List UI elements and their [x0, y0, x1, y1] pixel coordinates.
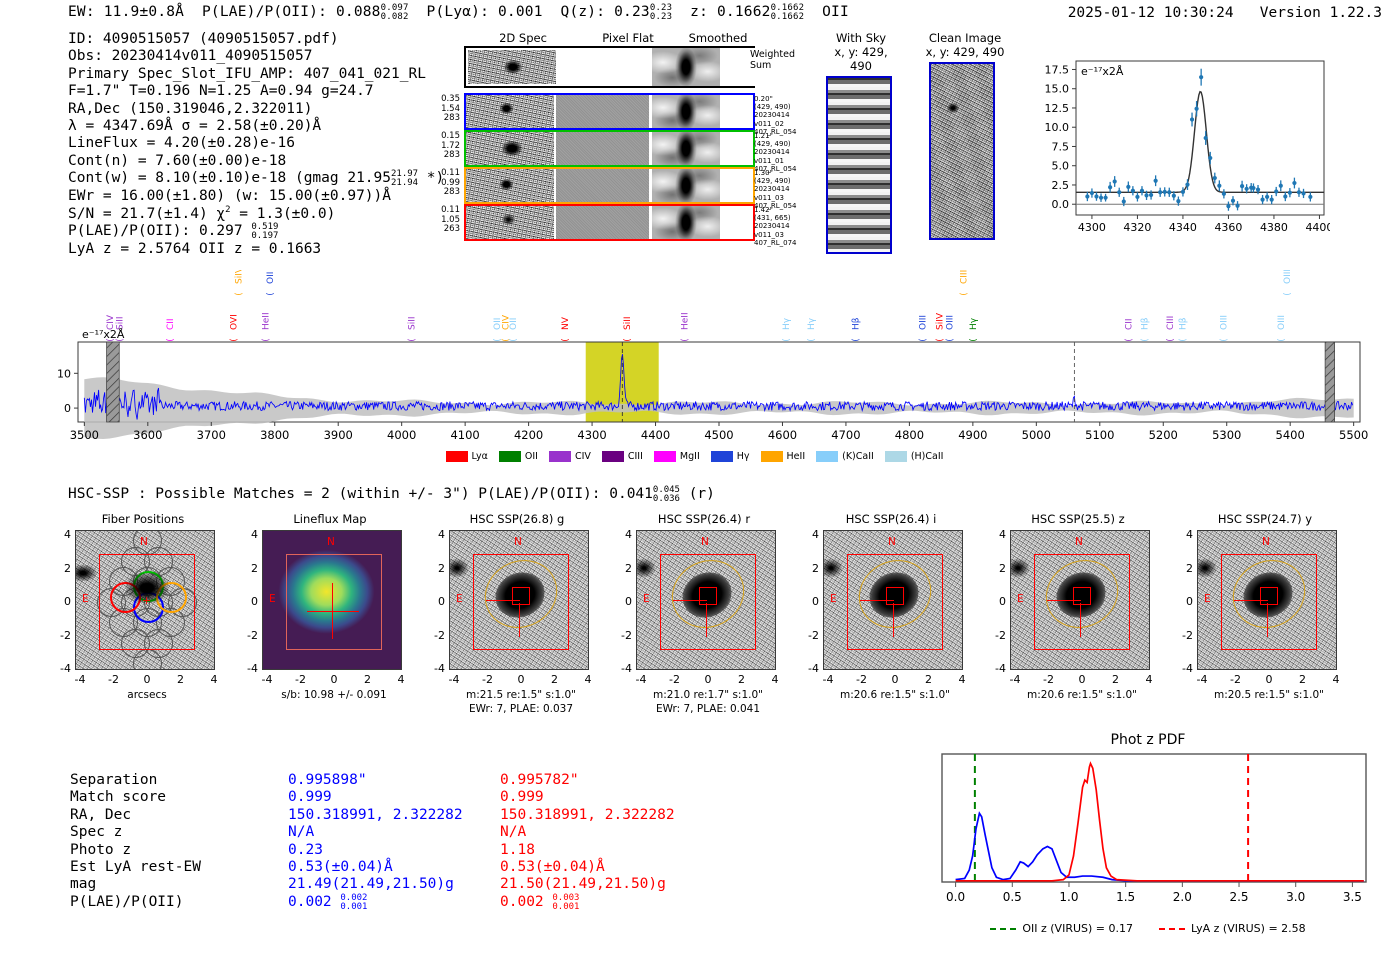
cutout-y-tick: 0	[53, 595, 71, 608]
legend-swatch	[446, 451, 468, 462]
cutout-x-tick: 2	[1106, 673, 1126, 686]
row-meta-line: 1.21"	[754, 132, 814, 140]
svg-text:2.5: 2.5	[1052, 179, 1070, 192]
cutout-panel: HSC SSP(25.5) zNE-4-2024-4-2024m:20.6 re…	[993, 512, 1183, 526]
cutout-y-tick: 4	[427, 528, 445, 541]
svg-text:4400: 4400	[641, 428, 670, 442]
svg-text:Hγ: Hγ	[782, 317, 792, 330]
photz-pdf-chart: Phot z PDF0.00.51.01.52.02.53.03.5	[918, 728, 1378, 918]
row-smoothed	[652, 132, 720, 165]
info-radec: RA,Dec (150.319046,2.322011)	[68, 101, 444, 118]
row-meta-line: v011_02	[754, 120, 814, 128]
match-row-label: Est LyA rest-EW	[70, 859, 201, 876]
svg-text:(: (	[946, 338, 956, 342]
svg-text:3.0: 3.0	[1286, 890, 1305, 904]
photz-legend-dash	[1159, 928, 1185, 930]
row-meta-line: v011_03	[754, 231, 814, 239]
svg-text:OIII: OIII	[1283, 270, 1293, 284]
svg-text:5000: 5000	[1022, 428, 1051, 442]
cutout-y-tick: 2	[614, 562, 632, 575]
weighted-sum-pixelflat	[558, 48, 649, 86]
cutout-y-tick: -2	[1175, 629, 1193, 642]
center-marker	[512, 587, 530, 605]
info-sn-post: = 1.3(±0.0)	[231, 206, 336, 222]
row-2dspec	[466, 206, 554, 239]
ew-label: EW:	[68, 4, 95, 20]
cutout-caption-primary: m:20.5 re:1.5" s:1.0"	[1174, 689, 1364, 702]
row-2dspec	[466, 132, 554, 165]
row-meta-line: v011_03	[754, 194, 814, 202]
version-timestamp: 2025-01-12 10:30:24 Version 1.22.3	[1068, 5, 1382, 21]
row-pixelflat	[556, 169, 649, 202]
svg-text:4300: 4300	[577, 428, 606, 442]
svg-text:5400: 5400	[1276, 428, 1305, 442]
row-stats: 0.111.05263	[416, 206, 460, 235]
svg-text:4700: 4700	[831, 428, 860, 442]
cutout-image[interactable]: +NE	[75, 530, 215, 670]
cutout-x-tick: 4	[391, 673, 411, 686]
svg-text:5500: 5500	[1339, 428, 1368, 442]
svg-text:Hγ: Hγ	[807, 317, 817, 330]
compass-e: E	[643, 593, 650, 605]
legend-label: MgII	[680, 451, 700, 462]
match-row-label: P(LAE)/P(OII)	[70, 894, 184, 911]
legend-swatch	[711, 451, 733, 462]
line-fit-chart: e⁻¹⁷x2Å0.02.55.07.510.012.515.017.543004…	[1030, 53, 1330, 243]
cutout-x-tick: 4	[765, 673, 785, 686]
svg-text:10.0: 10.0	[1045, 121, 1070, 134]
row-stats: 0.151.72283	[416, 132, 460, 161]
svg-text:12.5: 12.5	[1045, 102, 1070, 115]
plya-value: 0.001	[498, 4, 543, 20]
row-meta: 0.20"(429, 490)20230414v011_02407_RL_054	[754, 95, 814, 136]
match-value-blue: 0.002 0.0020.001	[288, 894, 367, 912]
weighted-sum-smoothed	[652, 48, 720, 86]
weighted-sum-2dspec	[468, 50, 556, 84]
svg-text:Phot z PDF: Phot z PDF	[1111, 732, 1186, 748]
svg-text:(: (	[680, 338, 690, 342]
svg-text:0.5: 0.5	[1003, 890, 1022, 904]
svg-text:(: (	[782, 338, 792, 342]
svg-text:OIII: OIII	[1277, 315, 1287, 330]
compass-n: N	[140, 536, 148, 548]
photz-legend-label: OII z (VIRUS) = 0.17	[1022, 922, 1133, 935]
cutout-y-tick: -4	[53, 662, 71, 675]
cutout-y-tick: -4	[988, 662, 1006, 675]
cutout-x-tick: -4	[257, 673, 277, 686]
svg-text:OII: OII	[266, 272, 276, 284]
svg-text:(: (	[935, 338, 945, 342]
info-cont-w: Cont(w) = 8.10(±0.10)e-18 (gmag 21.9521.…	[68, 170, 444, 188]
cutout-title: HSC SSP(26.4) r	[619, 512, 789, 526]
svg-text:3600: 3600	[133, 428, 162, 442]
cutout-x-tick: 4	[204, 673, 224, 686]
cutout-y-tick: -4	[240, 662, 258, 675]
svg-text:Hβ: Hβ	[852, 317, 862, 330]
compass-n: N	[701, 536, 709, 548]
cutout-x-tick: 4	[1139, 673, 1159, 686]
qz-label: Q(z):	[561, 4, 606, 20]
match-value-red: 0.999	[500, 789, 544, 806]
cutout-y-tick: 0	[988, 595, 1006, 608]
cutout-x-tick: -4	[444, 673, 464, 686]
legend-label: OII	[525, 451, 538, 462]
row-stats: 0.110.99283	[416, 169, 460, 198]
svg-text:(: (	[1277, 338, 1287, 342]
cutout-y-tick: 0	[801, 595, 819, 608]
cutout-y-tick: -2	[614, 629, 632, 642]
info-cont-w-pre: Cont(w) = 8.10(±0.10)e-18 (gmag 21.95	[68, 170, 391, 186]
cutout-image[interactable]: NE	[262, 530, 402, 670]
legend-label: CIII	[628, 451, 643, 462]
match-value-red: N/A	[500, 824, 526, 841]
row-meta: 1.42"(431, 665)20230414v011_03407_RL_074	[754, 206, 814, 247]
svg-text:HeII: HeII	[680, 312, 690, 330]
row-meta-line: (429, 490)	[754, 140, 814, 148]
match-value-red: 150.318991, 2.322282	[500, 807, 675, 824]
timestamp: 2025-01-12 10:30:24	[1068, 5, 1234, 21]
cutout-y-tick: -4	[801, 662, 819, 675]
cutout-x-tick: -4	[1192, 673, 1212, 686]
cutout-image[interactable]: NE	[823, 530, 963, 670]
cutout-x-tick: 2	[732, 673, 752, 686]
cutout-x-tick: -2	[291, 673, 311, 686]
cutout-x-tick: 0	[324, 673, 344, 686]
match-value-blue: N/A	[288, 824, 314, 841]
info-obs: Obs: 20230414v011_4090515057	[68, 48, 444, 65]
compass-n: N	[888, 536, 896, 548]
center-marker	[1260, 587, 1278, 605]
clean-image-title: Clean Image	[925, 31, 1005, 45]
cutout-image[interactable]: NE	[636, 530, 776, 670]
svg-text:4000: 4000	[387, 428, 416, 442]
cutout-y-tick: 2	[427, 562, 445, 575]
with-sky-image	[826, 76, 892, 254]
match-row-label: Separation	[70, 772, 157, 789]
cutout-title: Lineflux Map	[245, 512, 415, 526]
row-stat-value: 283	[416, 151, 460, 161]
legend-swatch	[885, 451, 907, 462]
row-meta: 1.30"(429, 490)20230414v011_03407_RL_054	[754, 169, 814, 210]
svg-text:(: (	[407, 338, 417, 342]
compass-e: E	[1017, 593, 1024, 605]
svg-text:SiII: SiII	[623, 316, 633, 330]
photz-legend-dash	[990, 928, 1016, 930]
spec2d-row	[464, 167, 755, 204]
cutout-y-tick: 2	[53, 562, 71, 575]
svg-text:2.5: 2.5	[1229, 890, 1248, 904]
cutout-caption-secondary: EWr: 7, PLAE: 0.041	[613, 703, 803, 716]
cutout-panel: Fiber Positions+NE-4-2024-4-2024arcsecs	[58, 512, 248, 526]
cutout-caption-secondary: EWr: 7, PLAE: 0.037	[426, 703, 616, 716]
match-row-label: Match score	[70, 789, 166, 806]
svg-text:Hβ: Hβ	[1178, 317, 1188, 330]
cutout-x-tick: 0	[511, 673, 531, 686]
row-meta-line: v011_01	[754, 157, 814, 165]
svg-text:(: (	[623, 338, 633, 342]
match-value-blue: 150.318991, 2.322282	[288, 807, 463, 824]
svg-text:4800: 4800	[895, 428, 924, 442]
match-value-red: 21.50(21.49,21.50)g	[500, 876, 666, 893]
hsc-summary-post: (r)	[689, 486, 715, 502]
cutout-x-tick: -4	[631, 673, 651, 686]
cutout-panel: HSC SSP(26.4) iNE-4-2024-4-2024m:20.6 re…	[806, 512, 996, 526]
cutout-title: HSC SSP(24.7) y	[1180, 512, 1350, 526]
cutout-x-tick: 4	[952, 673, 972, 686]
cutout-x-tick: -4	[1005, 673, 1025, 686]
svg-text:5200: 5200	[1149, 428, 1178, 442]
plae-label: P(LAE)/P(OII):	[202, 4, 327, 20]
info-plae-pre: P(LAE)/P(OII): 0.297	[68, 223, 243, 239]
cutout-image[interactable]: NE	[449, 530, 589, 670]
compass-e: E	[82, 593, 89, 605]
cutout-x-tick: 0	[698, 673, 718, 686]
clean-image-panel: Clean Image x, y: 429, 490	[925, 31, 1005, 240]
row-meta-line: 0.20"	[754, 95, 814, 103]
compass-e: E	[456, 593, 463, 605]
cutout-y-tick: 2	[1175, 562, 1193, 575]
cutout-x-tick: 2	[919, 673, 939, 686]
svg-text:5100: 5100	[1085, 428, 1114, 442]
match-value-blue: 0.995898"	[288, 772, 367, 789]
svg-text:3900: 3900	[324, 428, 353, 442]
clean-image-coords: x, y: 429, 490	[925, 45, 1005, 59]
row-meta-line: 1.30"	[754, 169, 814, 177]
svg-text:(: (	[852, 338, 862, 342]
row-stat-value: 283	[416, 188, 460, 198]
plae-lower: 0.082	[381, 13, 409, 22]
svg-text:CIII: CIII	[1166, 316, 1176, 330]
svg-text:(: (	[807, 338, 817, 342]
row-meta-line: (429, 490)	[754, 103, 814, 111]
cutout-y-tick: -2	[240, 629, 258, 642]
compass-n: N	[514, 536, 522, 548]
cutout-x-tick: 2	[358, 673, 378, 686]
match-value-blue: 21.49(21.49,21.50)g	[288, 876, 454, 893]
cutout-panel: Lineflux MapNE-4-2024-4-2024s/b: 10.98 +…	[245, 512, 435, 526]
cutout-panel: HSC SSP(26.8) gNE-4-2024-4-2024m:21.5 re…	[432, 512, 622, 526]
svg-text:CIII: CIII	[960, 270, 970, 284]
photz-legend: OII z (VIRUS) = 0.17LyA z (VIRUS) = 2.58	[918, 918, 1378, 937]
legend-swatch	[499, 451, 521, 462]
qz-lower: 0.23	[650, 13, 672, 22]
svg-text:CII: CII	[166, 318, 176, 330]
legend-swatch	[654, 451, 676, 462]
svg-text:(: (	[1220, 338, 1230, 342]
cutout-y-tick: 4	[988, 528, 1006, 541]
svg-text:7.5: 7.5	[1052, 140, 1070, 153]
info-redshifts: LyA z = 2.5764 OII z = 0.1663	[68, 241, 444, 258]
svg-text:(: (	[235, 292, 245, 296]
row-meta: 1.21"(429, 490)20230414v011_01407_RL_054	[754, 132, 814, 173]
svg-text:Hβ: Hβ	[1140, 317, 1150, 330]
info-cont-n: Cont(n) = 7.60(±0.00)e-18	[68, 153, 444, 170]
cutout-title: Fiber Positions	[58, 512, 228, 526]
info-plae-lo: 0.197	[251, 232, 278, 241]
svg-text:3.5: 3.5	[1343, 890, 1362, 904]
svg-text:(: (	[1125, 338, 1135, 342]
legend-swatch	[602, 451, 624, 462]
spec2d-row	[464, 130, 755, 167]
svg-text:(: (	[918, 338, 928, 342]
spectrum-legend: LyαOIICIVCIIIMgIIHγHeII(K)CaII(H)CaII	[0, 446, 1400, 465]
legend-label: Lyα	[472, 451, 488, 462]
cutout-x-tick: -2	[478, 673, 498, 686]
row-pixelflat	[556, 206, 649, 239]
compass-e: E	[1204, 593, 1211, 605]
legend-swatch	[549, 451, 571, 462]
svg-text:4600: 4600	[768, 428, 797, 442]
info-ewr: EWr = 16.00(±1.80) (w: 15.00(±0.97))Å	[68, 188, 444, 205]
cutout-y-tick: 0	[240, 595, 258, 608]
row-smoothed	[652, 206, 720, 239]
source-info-block: ID: 4090515057 (4090515057.pdf) Obs: 202…	[68, 31, 444, 259]
z-line-id: OII	[822, 4, 849, 20]
info-lambda: λ = 4347.69Å σ = 2.58(±0.20)Å	[68, 118, 444, 135]
svg-text:(: (	[1166, 338, 1176, 342]
cutout-x-tick: -2	[1226, 673, 1246, 686]
svg-text:OIII: OIII	[1220, 315, 1230, 330]
cutout-x-tick: 4	[578, 673, 598, 686]
svg-text:0.0: 0.0	[946, 890, 965, 904]
version-label: Version 1.22.3	[1260, 5, 1382, 21]
row-pixelflat	[556, 132, 649, 165]
cutout-y-tick: 4	[801, 528, 819, 541]
svg-text:OIII: OIII	[946, 315, 956, 330]
match-value-red: 0.002 0.0030.001	[500, 894, 579, 912]
cutout-y-tick: 0	[1175, 595, 1193, 608]
ew-value: 11.9±0.8Å	[104, 4, 184, 20]
cutout-caption-primary: m:21.0 re:1.7" s:1.0"	[613, 689, 803, 702]
compass-n: N	[1075, 536, 1083, 548]
svg-text:0: 0	[64, 402, 71, 415]
match-value-red: 1.18	[500, 842, 535, 859]
svg-text:e⁻¹⁷x2Å: e⁻¹⁷x2Å	[1081, 65, 1124, 78]
cutout-title: HSC SSP(26.4) i	[806, 512, 976, 526]
svg-text:Hγ: Hγ	[969, 317, 979, 330]
row-meta-line: 20230414	[754, 111, 814, 119]
cutout-x-tick: -4	[818, 673, 838, 686]
svg-text:e⁻¹⁷x2Å: e⁻¹⁷x2Å	[82, 328, 125, 341]
svg-text:1.0: 1.0	[1059, 890, 1078, 904]
hsc-summary: HSC-SSP : Possible Matches = 2 (within +…	[68, 486, 715, 504]
svg-text:(: (	[1140, 338, 1150, 342]
svg-text:1.5: 1.5	[1116, 890, 1135, 904]
svg-text:OVI: OVI	[230, 314, 240, 330]
cutout-image[interactable]: NE	[1197, 530, 1337, 670]
legend-label: HeII	[787, 451, 806, 462]
cutout-y-tick: -2	[988, 629, 1006, 642]
info-cont-w-lo: 21.94	[391, 179, 418, 188]
svg-text:3500: 3500	[70, 428, 99, 442]
cutout-y-tick: 2	[988, 562, 1006, 575]
z-lower: 0.1662	[771, 13, 805, 22]
fiber-circle[interactable]	[133, 649, 162, 670]
cutout-x-tick: -2	[104, 673, 124, 686]
row-2dspec	[466, 95, 554, 128]
cutout-x-tick: 0	[1259, 673, 1279, 686]
cutout-y-tick: 4	[614, 528, 632, 541]
with-sky-panel: With Sky x, y: 429, 490	[826, 31, 896, 254]
z-value: 0.1662	[717, 4, 771, 20]
cutout-image[interactable]: NE	[1010, 530, 1150, 670]
svg-text:17.5: 17.5	[1045, 63, 1070, 76]
cutout-y-tick: -2	[427, 629, 445, 642]
info-id: ID: 4090515057 (4090515057.pdf)	[68, 31, 444, 48]
match-value-blue: 0.53(±0.04)Å	[288, 859, 393, 876]
header-summary-line: EW: 11.9±0.8Å P(LAE)/P(OII): 0.0880.0970…	[68, 4, 849, 22]
cutout-y-tick: 2	[801, 562, 819, 575]
svg-text:10: 10	[57, 367, 71, 380]
cutout-y-tick: -2	[801, 629, 819, 642]
spec2d-row	[464, 204, 755, 241]
svg-text:(: (	[509, 338, 519, 342]
cutout-caption-primary: m:21.5 re:1.5" s:1.0"	[426, 689, 616, 702]
with-sky-title: With Sky	[826, 31, 896, 45]
cutout-y-tick: 4	[53, 528, 71, 541]
match-value-blue: 0.23	[288, 842, 323, 859]
spec2d-row	[464, 93, 755, 130]
svg-text:NV: NV	[561, 316, 571, 330]
weighted-sum-label: WeightedSum	[750, 50, 795, 71]
svg-text:4360: 4360	[1214, 221, 1242, 234]
cutout-x-tick: 2	[171, 673, 191, 686]
z-label: z:	[690, 4, 708, 20]
match-value-red: 0.53(±0.04)Å	[500, 859, 605, 876]
cutout-y-tick: -4	[427, 662, 445, 675]
svg-text:OIII: OIII	[918, 315, 928, 330]
svg-text:15.0: 15.0	[1045, 83, 1070, 96]
row-stats: 0.351.54283	[416, 95, 460, 124]
cutout-y-tick: 0	[614, 595, 632, 608]
svg-text:4400: 4400	[1305, 221, 1330, 234]
compass-n: N	[1262, 536, 1270, 548]
qz-value: 0.23	[614, 4, 650, 20]
row-meta-line: (429, 490)	[754, 177, 814, 185]
cutout-x-tick: 2	[1293, 673, 1313, 686]
svg-text:4200: 4200	[514, 428, 543, 442]
cutout-panel: HSC SSP(26.4) rNE-4-2024-4-2024m:21.0 re…	[619, 512, 809, 526]
svg-text:4900: 4900	[958, 428, 987, 442]
info-plae: P(LAE)/P(OII): 0.297 0.5190.197	[68, 223, 444, 241]
svg-text:SiII: SiII	[407, 316, 417, 330]
center-marker	[886, 587, 904, 605]
cutout-panel-row: Fiber Positions+NE-4-2024-4-2024arcsecsL…	[0, 512, 1400, 727]
hsc-summary-lo: 0.036	[653, 495, 680, 504]
svg-text:(: (	[166, 338, 176, 342]
match-value-red: 0.995782"	[500, 772, 579, 789]
svg-text:3800: 3800	[260, 428, 289, 442]
plya-label: P(Lyα):	[427, 4, 490, 20]
cutout-y-tick: 4	[1175, 528, 1193, 541]
row-smoothed	[652, 95, 720, 128]
row-meta-line: 20230414	[754, 148, 814, 156]
cutout-y-tick: 0	[427, 595, 445, 608]
cutout-y-tick: 2	[240, 562, 258, 575]
svg-text:(: (	[969, 338, 979, 342]
legend-label: CIV	[575, 451, 591, 462]
cutout-caption-primary: arcsecs	[52, 689, 242, 702]
svg-text:OII: OII	[509, 318, 519, 330]
row-meta-line: 407_RL_074	[754, 239, 814, 247]
info-lineflux: LineFlux = 4.20(±0.28)e-16	[68, 135, 444, 152]
clean-image	[929, 62, 995, 240]
plae-value: 0.088	[336, 4, 381, 20]
cutout-x-tick: 2	[545, 673, 565, 686]
svg-text:4300: 4300	[1078, 221, 1106, 234]
cutout-y-tick: -2	[53, 629, 71, 642]
row-2dspec	[466, 169, 554, 202]
